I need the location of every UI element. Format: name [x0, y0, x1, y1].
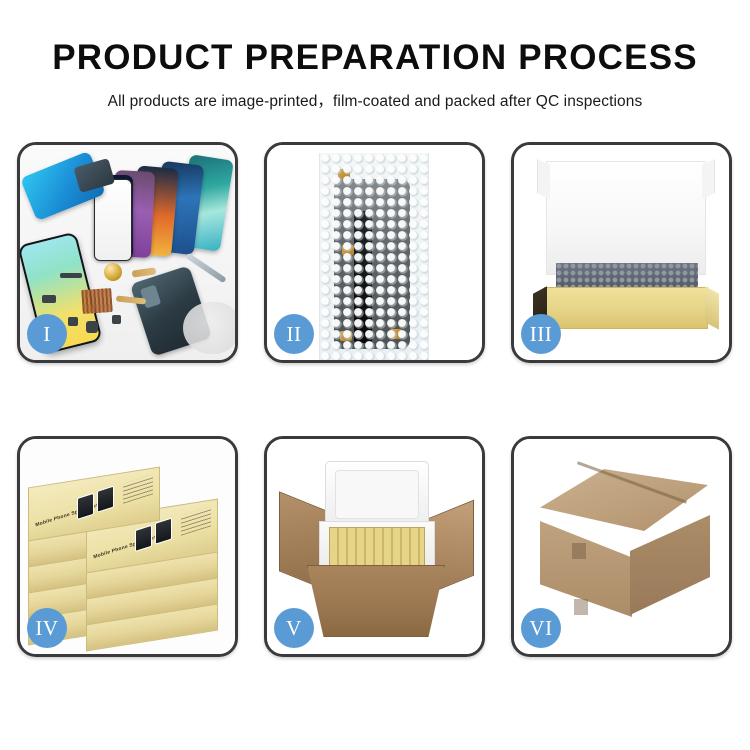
- part-button-icon: [112, 315, 121, 324]
- step-card-5[interactable]: V: [264, 436, 485, 657]
- step-card-1[interactable]: I: [17, 142, 238, 363]
- step-card-6[interactable]: VI: [511, 436, 732, 657]
- box-spec-lines-front: [181, 506, 211, 536]
- yellow-box-tray-icon: [544, 287, 708, 329]
- carton-body-icon: [307, 565, 445, 637]
- step-card-2[interactable]: II: [264, 142, 485, 363]
- step-badge-4: IV: [27, 608, 67, 648]
- carton-tab-upper-icon: [572, 543, 586, 559]
- styrofoam-lid-icon: [325, 461, 429, 529]
- carton-tab-lower-icon: [574, 599, 588, 615]
- box-window-back-2: [97, 485, 114, 512]
- part-chip-icon: [68, 317, 78, 326]
- part-speaker-icon: [86, 321, 98, 333]
- process-steps-grid: I II I: [17, 142, 733, 657]
- step-card-3[interactable]: III: [511, 142, 732, 363]
- box-lid-icon: [546, 161, 706, 275]
- hand-icon: [183, 302, 235, 354]
- step-card-4[interactable]: Mobile Phone Spare Parts Mobile Phone Sp…: [17, 436, 238, 657]
- step-badge-3: III: [521, 314, 561, 354]
- step-badge-5: V: [274, 608, 314, 648]
- page-header: PRODUCT PREPARATION PROCESS All products…: [0, 0, 750, 111]
- page-subtitle: All products are image-printed，film-coat…: [0, 89, 750, 111]
- part-camera-icon: [42, 295, 56, 303]
- step-badge-2: II: [274, 314, 314, 354]
- bubble-wrap-sleeve: [319, 153, 429, 360]
- step-badge-1: I: [27, 314, 67, 354]
- part-strip-icon: [60, 273, 82, 278]
- screw-tray-icon: [81, 288, 113, 314]
- page-title: PRODUCT PREPARATION PROCESS: [0, 40, 750, 77]
- bubble-texture: [320, 153, 428, 360]
- box-window-back-1: [77, 493, 94, 520]
- box-window-front-2: [155, 517, 172, 544]
- step-badge-6: VI: [521, 608, 561, 648]
- box-spec-lines-back: [123, 474, 153, 504]
- box-window-front-1: [135, 525, 152, 552]
- yellow-boxes-inside-icon: [329, 527, 425, 571]
- product-preparation-process-page: PRODUCT PREPARATION PROCESS All products…: [0, 0, 750, 750]
- gold-component-icon: [104, 263, 122, 281]
